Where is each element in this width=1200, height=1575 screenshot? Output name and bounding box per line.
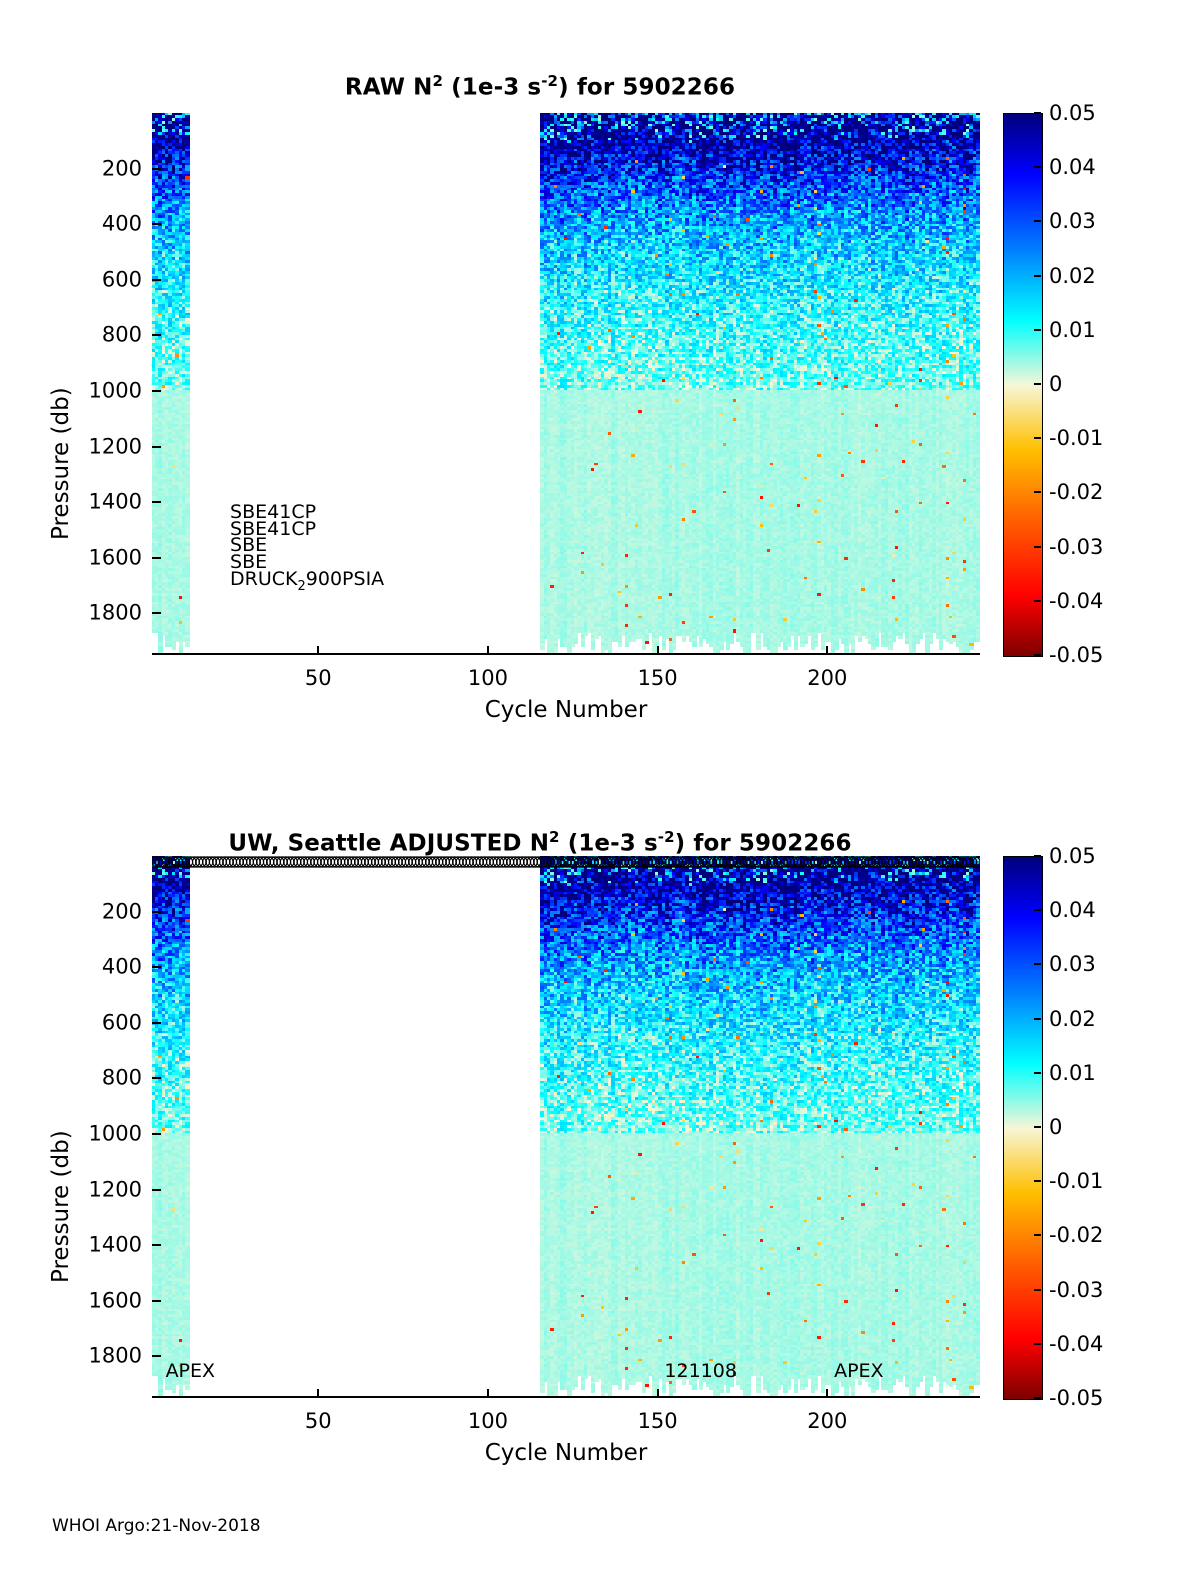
colorbar-tick-mark — [1034, 1397, 1041, 1399]
y-tick-mark — [152, 557, 161, 559]
y-tick-mark — [152, 279, 161, 281]
colorbar-tick-label: 0.01 — [1049, 1061, 1096, 1085]
x-tick-mark — [317, 1389, 319, 1398]
title-text-suffix: ) for 5902266 — [558, 75, 735, 101]
cycle-marker-row-icon — [152, 856, 980, 1398]
x-tick-label: 50 — [305, 1409, 332, 1433]
title-superscript-2: 2 — [549, 828, 560, 846]
plot-title-raw: RAW N2 (1e-3 s-2) for 5902266 — [90, 72, 990, 101]
colorbar-tick-label: 0.02 — [1049, 1007, 1096, 1031]
y-tick-mark — [152, 446, 161, 448]
y-tick-label: 600 — [102, 269, 142, 290]
x-tick-label: 50 — [305, 666, 332, 690]
x-tick-label: 150 — [638, 666, 678, 690]
panel-adjusted: UW, Seattle ADJUSTED N2 (1e-3 s-2) for 5… — [0, 740, 1200, 1530]
title-superscript-neg2: -2 — [541, 72, 558, 90]
colorbar-tick-mark — [1034, 491, 1041, 493]
colorbar-tick-mark — [1034, 1180, 1041, 1182]
colorbar-tick-mark — [1034, 546, 1041, 548]
y-tick-mark — [152, 966, 161, 968]
y-tick-label: 400 — [102, 957, 142, 978]
colorbar-tick-mark — [1034, 600, 1041, 602]
colorbar-tick-mark — [1034, 275, 1041, 277]
y-tick-label: 1400 — [89, 1235, 142, 1256]
colorbar-tick-label: -0.02 — [1049, 1223, 1103, 1247]
y-tick-label: 1600 — [89, 1290, 142, 1311]
colorbar-tick-label: 0.05 — [1049, 101, 1096, 125]
colorbar-tick-mark — [1034, 329, 1041, 331]
y-tick-mark — [152, 1133, 161, 1135]
colorbar-tick-mark — [1034, 1289, 1041, 1291]
x-tick-mark — [487, 646, 489, 655]
x-tick-label: 200 — [807, 1409, 847, 1433]
colorbar-tick-mark — [1034, 220, 1041, 222]
colorbar-tick-label: 0.01 — [1049, 318, 1096, 342]
title-superscript-neg2: -2 — [658, 828, 675, 846]
y-tick-mark — [152, 1077, 161, 1079]
colorbar-tick-label: -0.05 — [1049, 643, 1103, 667]
y-tick-mark — [152, 223, 161, 225]
y-axis-label-raw: Pressure (db) — [48, 387, 74, 540]
colorbar-tick-label: 0.03 — [1049, 952, 1096, 976]
colorbar-tick-mark — [1034, 1343, 1041, 1345]
x-tick-label: 100 — [468, 666, 508, 690]
colorbar-tick-mark — [1034, 1018, 1041, 1020]
y-tick-mark — [152, 1300, 161, 1302]
y-tick-label: 1800 — [89, 1346, 142, 1367]
colorbar-tick-label: -0.04 — [1049, 589, 1103, 613]
heatmap-axes-adjusted — [152, 856, 980, 1398]
y-tick-label: 200 — [102, 158, 142, 179]
y-tick-mark — [152, 1189, 161, 1191]
colorbar-tick-label: 0.05 — [1049, 844, 1096, 868]
title-superscript-2: 2 — [433, 72, 444, 90]
y-tick-mark — [152, 168, 161, 170]
title-text-suffix: ) for 5902266 — [675, 831, 852, 857]
y-tick-mark — [152, 1244, 161, 1246]
y-tick-mark — [152, 334, 161, 336]
colorbar-tick-mark — [1034, 166, 1041, 168]
colorbar-tick-label: -0.03 — [1049, 1278, 1103, 1302]
y-tick-label: 1200 — [89, 1179, 142, 1200]
colorbar-tick-label: -0.05 — [1049, 1386, 1103, 1410]
title-text-mid: (1e-3 s — [560, 831, 658, 857]
x-tick-mark — [487, 1389, 489, 1398]
y-tick-mark — [152, 1022, 161, 1024]
plot-annotation: 121108 — [664, 1359, 737, 1384]
title-text-main: UW, Seattle ADJUSTED N — [228, 831, 549, 857]
colorbar-raw — [1003, 113, 1043, 657]
y-tick-label: 800 — [102, 325, 142, 346]
colorbar-tick-label: 0.04 — [1049, 898, 1096, 922]
y-tick-label: 1200 — [89, 436, 142, 457]
colorbar-tick-mark — [1034, 383, 1041, 385]
x-tick-mark — [826, 646, 828, 655]
colorbar-tick-label: 0.02 — [1049, 264, 1096, 288]
plot-annotation: DRUCK2900PSIA — [230, 567, 384, 595]
y-tick-label: 1400 — [89, 492, 142, 513]
y-tick-mark — [152, 911, 161, 913]
y-tick-label: 1800 — [89, 603, 142, 624]
colorbar-tick-mark — [1034, 654, 1041, 656]
y-tick-label: 200 — [102, 901, 142, 922]
title-text-main: RAW N — [345, 75, 433, 101]
colorbar-tick-mark — [1034, 1126, 1041, 1128]
colorbar-tick-label: -0.03 — [1049, 535, 1103, 559]
y-tick-label: 400 — [102, 214, 142, 235]
x-tick-mark — [657, 1389, 659, 1398]
colorbar-tick-label: -0.04 — [1049, 1332, 1103, 1356]
colorbar-tick-mark — [1034, 112, 1041, 114]
colorbar-adjusted — [1003, 856, 1043, 1400]
x-axis-label-adjusted: Cycle Number — [116, 1440, 1016, 1466]
title-text-mid: (1e-3 s — [443, 75, 541, 101]
colorbar-tick-mark — [1034, 909, 1041, 911]
colorbar-tick-label: 0.03 — [1049, 209, 1096, 233]
y-tick-label: 1600 — [89, 547, 142, 568]
plot-annotation: APEX — [834, 1359, 883, 1384]
x-tick-label: 150 — [638, 1409, 678, 1433]
colorbar-tick-label: 0 — [1049, 1115, 1062, 1139]
colorbar-tick-label: -0.01 — [1049, 426, 1103, 450]
x-tick-label: 100 — [468, 1409, 508, 1433]
y-tick-label: 800 — [102, 1068, 142, 1089]
x-tick-mark — [657, 646, 659, 655]
plot-annotation: APEX — [166, 1359, 215, 1384]
colorbar-tick-mark — [1034, 437, 1041, 439]
colorbar-tick-label: -0.02 — [1049, 480, 1103, 504]
y-axis-label-adjusted: Pressure (db) — [48, 1130, 74, 1283]
colorbar-tick-label: -0.01 — [1049, 1169, 1103, 1193]
y-tick-label: 1000 — [89, 1123, 142, 1144]
panel-raw: RAW N2 (1e-3 s-2) for 5902266 2004006008… — [0, 0, 1200, 760]
colorbar-tick-mark — [1034, 963, 1041, 965]
colorbar-tick-mark — [1034, 1234, 1041, 1236]
y-tick-label: 1000 — [89, 380, 142, 401]
colorbar-tick-mark — [1034, 855, 1041, 857]
y-tick-label: 600 — [102, 1012, 142, 1033]
x-tick-label: 200 — [807, 666, 847, 690]
x-tick-mark — [826, 1389, 828, 1398]
x-axis-label-raw: Cycle Number — [116, 697, 1016, 723]
x-tick-mark — [317, 646, 319, 655]
y-tick-mark — [152, 501, 161, 503]
colorbar-tick-mark — [1034, 1072, 1041, 1074]
y-tick-mark — [152, 612, 161, 614]
plot-title-adjusted: UW, Seattle ADJUSTED N2 (1e-3 s-2) for 5… — [90, 828, 990, 857]
y-tick-mark — [152, 390, 161, 392]
colorbar-tick-label: 0.04 — [1049, 155, 1096, 179]
colorbar-tick-label: 0 — [1049, 372, 1062, 396]
figure-footer: WHOI Argo:21-Nov-2018 — [52, 1516, 261, 1536]
y-tick-mark — [152, 1355, 161, 1357]
